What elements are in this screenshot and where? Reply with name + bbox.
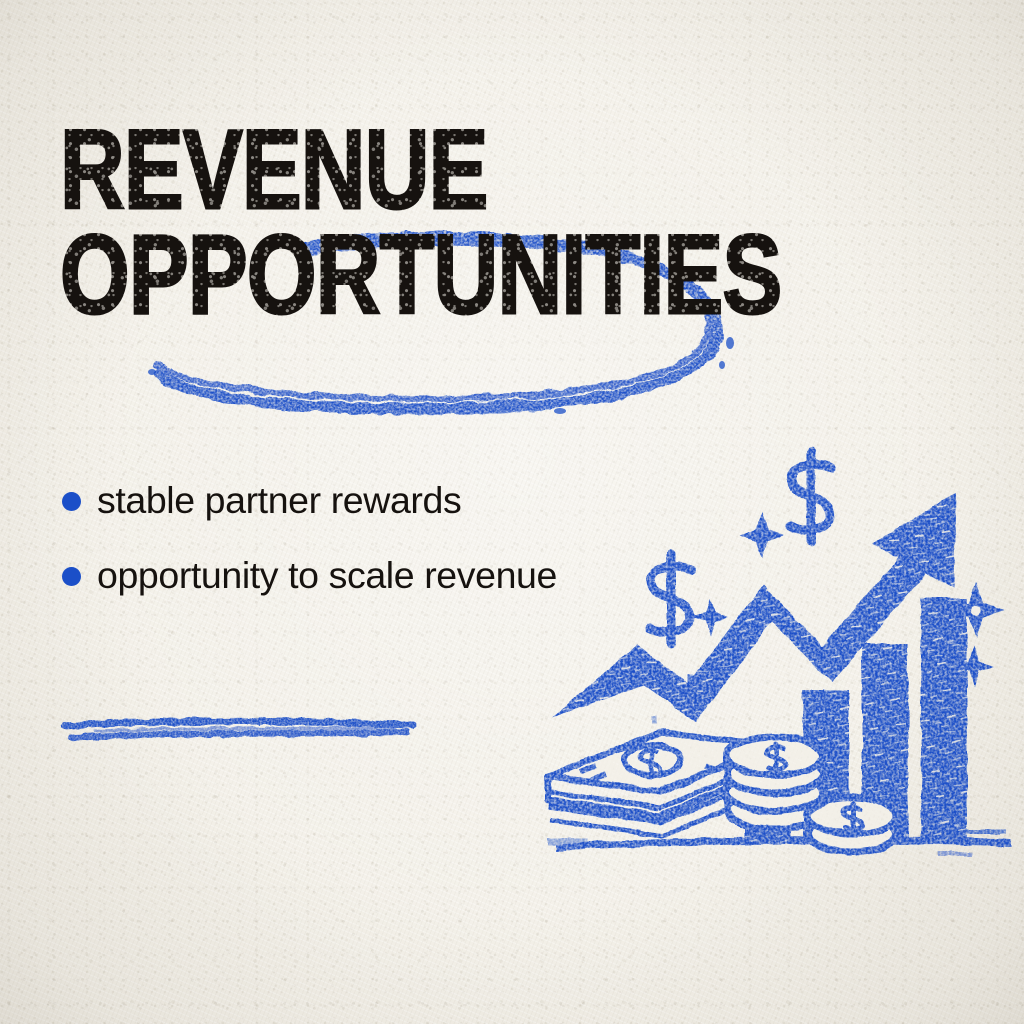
headline-block: REVENUE OPPORTUNITIES: [60, 118, 780, 327]
bullet-text: opportunity to scale revenue: [97, 553, 557, 598]
list-item: stable partner rewards: [62, 478, 622, 523]
list-item: opportunity to scale revenue: [62, 553, 622, 598]
headline-line-1: REVENUE: [60, 118, 636, 223]
headline-line-2-wrap: OPPORTUNITIES: [60, 223, 780, 328]
dollar-symbol-icon: [650, 554, 692, 644]
sparkle-plus-icon: [739, 512, 785, 558]
poster-canvas: REVENUE OPPORTUNITIES: [0, 0, 1024, 1024]
underline-stroke-icon: [55, 708, 425, 760]
headline-line-2: OPPORTUNITIES: [60, 223, 636, 328]
coin-symbol: [844, 804, 862, 833]
dollar-symbol-icon: [790, 452, 832, 542]
bullet-dot-icon: [62, 492, 81, 511]
bullet-list: stable partner rewards opportunity to sc…: [62, 478, 622, 627]
bullet-dot-icon: [62, 567, 81, 586]
coin-symbol: [767, 744, 785, 773]
sparkle-plus-icon: [691, 598, 729, 636]
bullet-text: stable partner rewards: [97, 478, 461, 523]
headline-line-1-wrap: REVENUE: [60, 118, 780, 223]
